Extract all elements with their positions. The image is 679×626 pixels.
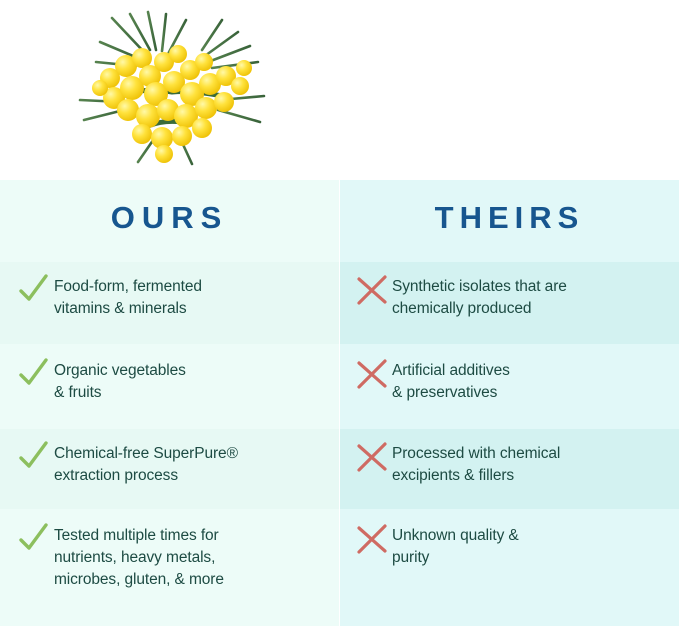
- list-item-text: Organic vegetables & fruits: [50, 360, 186, 404]
- line-1: Synthetic isolates that are: [392, 278, 567, 295]
- line-1: Processed with chemical: [392, 445, 560, 462]
- cross-icon: [354, 356, 390, 392]
- line-2: & fruits: [54, 384, 101, 401]
- list-item: Organic vegetables & fruits: [16, 360, 326, 404]
- cross-icon: [354, 521, 390, 557]
- line-1: Unknown quality &: [392, 527, 519, 544]
- line-2: excipients & fillers: [392, 467, 514, 484]
- comparison-infographic: 80 60 40 100ml: [0, 0, 679, 626]
- mimosa-flower-illustration: [52, 6, 284, 166]
- list-item: Processed with chemical excipients & fil…: [354, 443, 674, 487]
- line-2: chemically produced: [392, 300, 531, 317]
- list-item: Food-form, fermented vitamins & minerals: [16, 276, 326, 320]
- check-icon: [16, 357, 50, 391]
- line-3: microbes, gluten, & more: [54, 571, 224, 588]
- list-item: Chemical-free SuperPure® extraction proc…: [16, 443, 326, 487]
- list-item: Tested multiple times for nutrients, hea…: [16, 525, 326, 591]
- list-item-text: Chemical-free SuperPure® extraction proc…: [50, 443, 238, 487]
- mimosa-flower-photo: [0, 0, 339, 180]
- line-2: & preservatives: [392, 384, 497, 401]
- hero-image-row: 80 60 40 100ml: [0, 0, 679, 180]
- list-item: Synthetic isolates that are chemically p…: [354, 276, 674, 320]
- list-item-text: Processed with chemical excipients & fil…: [390, 443, 560, 487]
- line-1: Organic vegetables: [54, 362, 186, 379]
- list-item: Unknown quality & purity: [354, 525, 674, 569]
- cross-icon: [354, 439, 390, 475]
- column-header-ours: OURS: [0, 200, 339, 236]
- laboratory-flask-photo: 80 60 40 100ml: [340, 0, 679, 180]
- line-1: Tested multiple times for: [54, 527, 219, 544]
- check-icon: [16, 273, 50, 307]
- list-item-text: Food-form, fermented vitamins & minerals: [50, 276, 202, 320]
- line-1: Artificial additives: [392, 362, 510, 379]
- mimosa-svg: [52, 6, 284, 166]
- column-theirs: THEIRS Synthetic isolates that are chemi…: [340, 180, 679, 626]
- column-header-theirs: THEIRS: [340, 200, 679, 236]
- line-1: Chemical-free SuperPure®: [54, 445, 238, 462]
- list-item-text: Artificial additives & preservatives: [390, 360, 510, 404]
- line-2: vitamins & minerals: [54, 300, 186, 317]
- check-icon: [16, 440, 50, 474]
- list-item: Artificial additives & preservatives: [354, 360, 674, 404]
- comparison-table: OURS Food-form, fermented vitamins & min…: [0, 180, 679, 626]
- list-item-text: Tested multiple times for nutrients, hea…: [50, 525, 224, 591]
- list-item-text: Synthetic isolates that are chemically p…: [390, 276, 567, 320]
- list-item-text: Unknown quality & purity: [390, 525, 519, 569]
- line-2: extraction process: [54, 467, 178, 484]
- line-2: purity: [392, 549, 429, 566]
- cross-icon: [354, 272, 390, 308]
- line-2: nutrients, heavy metals,: [54, 549, 215, 566]
- line-1: Food-form, fermented: [54, 278, 202, 295]
- check-icon: [16, 522, 50, 556]
- column-ours: OURS Food-form, fermented vitamins & min…: [0, 180, 339, 626]
